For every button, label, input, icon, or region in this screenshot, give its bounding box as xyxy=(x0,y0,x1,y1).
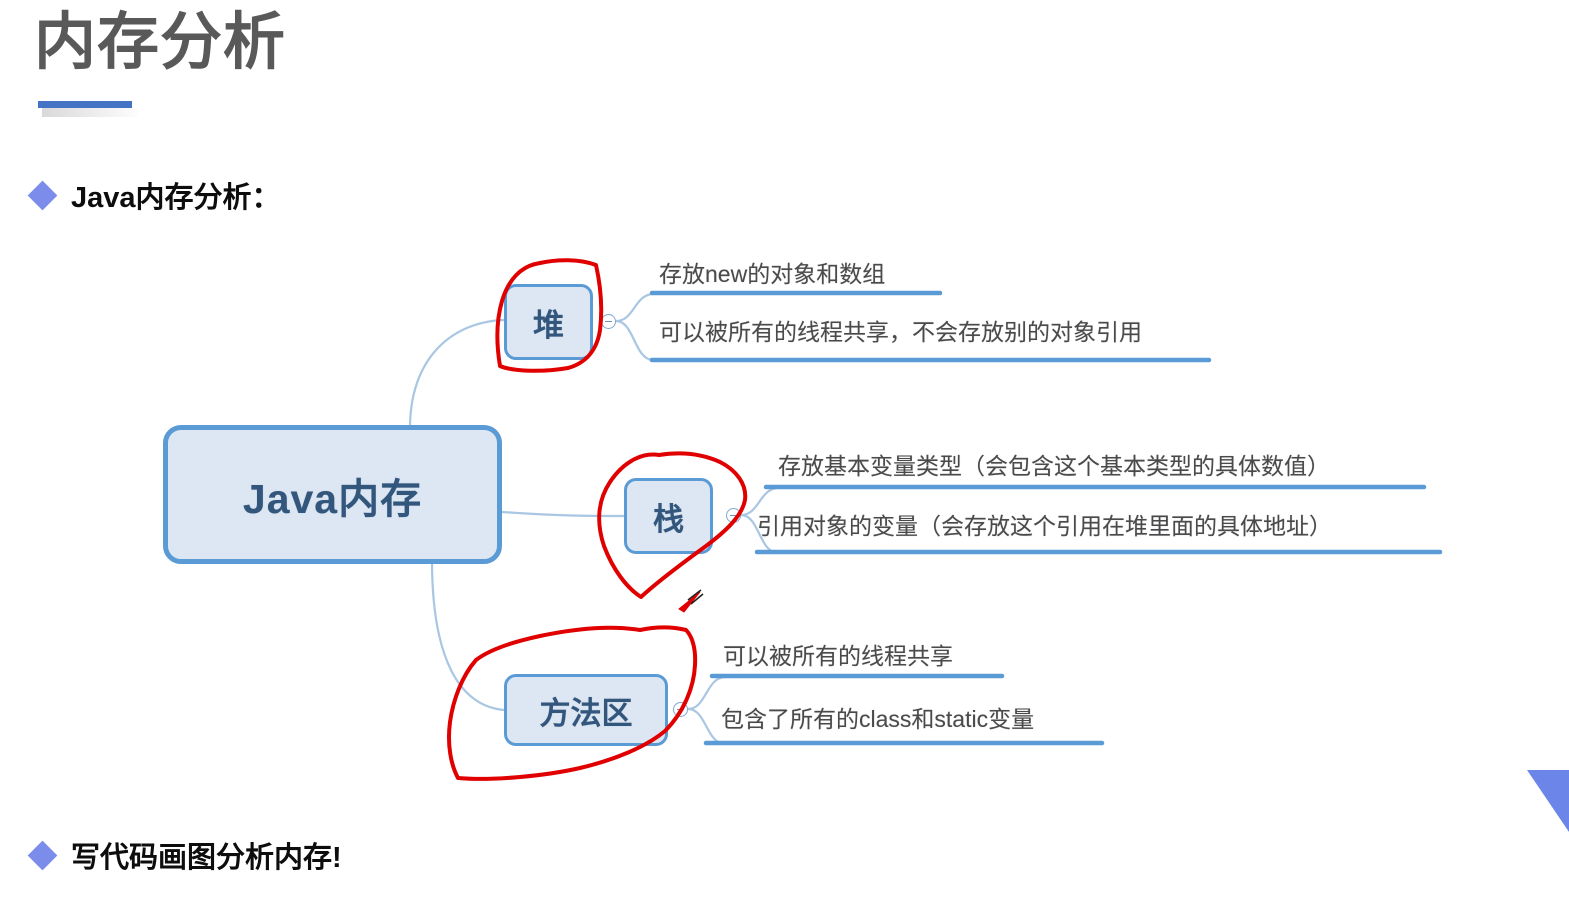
corner-triangle-decoration xyxy=(1527,770,1569,832)
collapse-toggle-heap-icon[interactable] xyxy=(601,314,616,329)
slide-canvas: 内存分析 Java内存分析： xyxy=(0,0,1569,918)
mindmap-leaf-method-area-2: 包含了所有的class和static变量 xyxy=(721,700,1034,734)
mindmap-leaf-method-area-1: 可以被所有的线程共享 xyxy=(723,637,953,671)
mindmap-node-root[interactable]: Java内存 xyxy=(163,425,502,564)
mindmap-node-stack[interactable]: 栈 xyxy=(624,478,713,554)
bullet-label-bottom: 写代码画图分析内存! xyxy=(71,834,342,876)
connector-root-to-stack xyxy=(502,512,624,516)
connector-method-leaf2 xyxy=(688,709,724,744)
mindmap-leaf-stack-1: 存放基本变量类型（会包含这个基本类型的具体数值） xyxy=(778,447,1330,481)
connector-root-to-heap xyxy=(410,320,504,428)
mindmap-leaf-heap-2: 可以被所有的线程共享，不会存放别的对象引用 xyxy=(659,313,1142,347)
connector-heap-leaf1 xyxy=(616,294,652,321)
connector-root-to-method xyxy=(432,560,504,710)
connector-method-leaf1 xyxy=(688,677,724,709)
mindmap-node-heap[interactable]: 堆 xyxy=(504,284,593,360)
mindmap-leaf-stack-2: 引用对象的变量（会存放这个引用在堆里面的具体地址） xyxy=(757,507,1332,541)
collapse-toggle-method-area-icon[interactable] xyxy=(673,702,688,717)
diamond-bullet-icon-bottom xyxy=(28,840,58,870)
mindmap-node-method-area[interactable]: 方法区 xyxy=(504,674,668,746)
collapse-toggle-stack-icon[interactable] xyxy=(726,508,741,523)
connector-heap-leaf2 xyxy=(616,321,652,360)
mindmap-leaf-heap-1: 存放new的对象和数组 xyxy=(659,255,885,289)
mindmap-diagram: Java内存 堆 栈 方法区 存放new的对象和数组 可以被所有的线程共享，不会… xyxy=(0,0,1569,918)
bullet-item-write-code: 写代码画图分析内存! xyxy=(32,834,342,876)
